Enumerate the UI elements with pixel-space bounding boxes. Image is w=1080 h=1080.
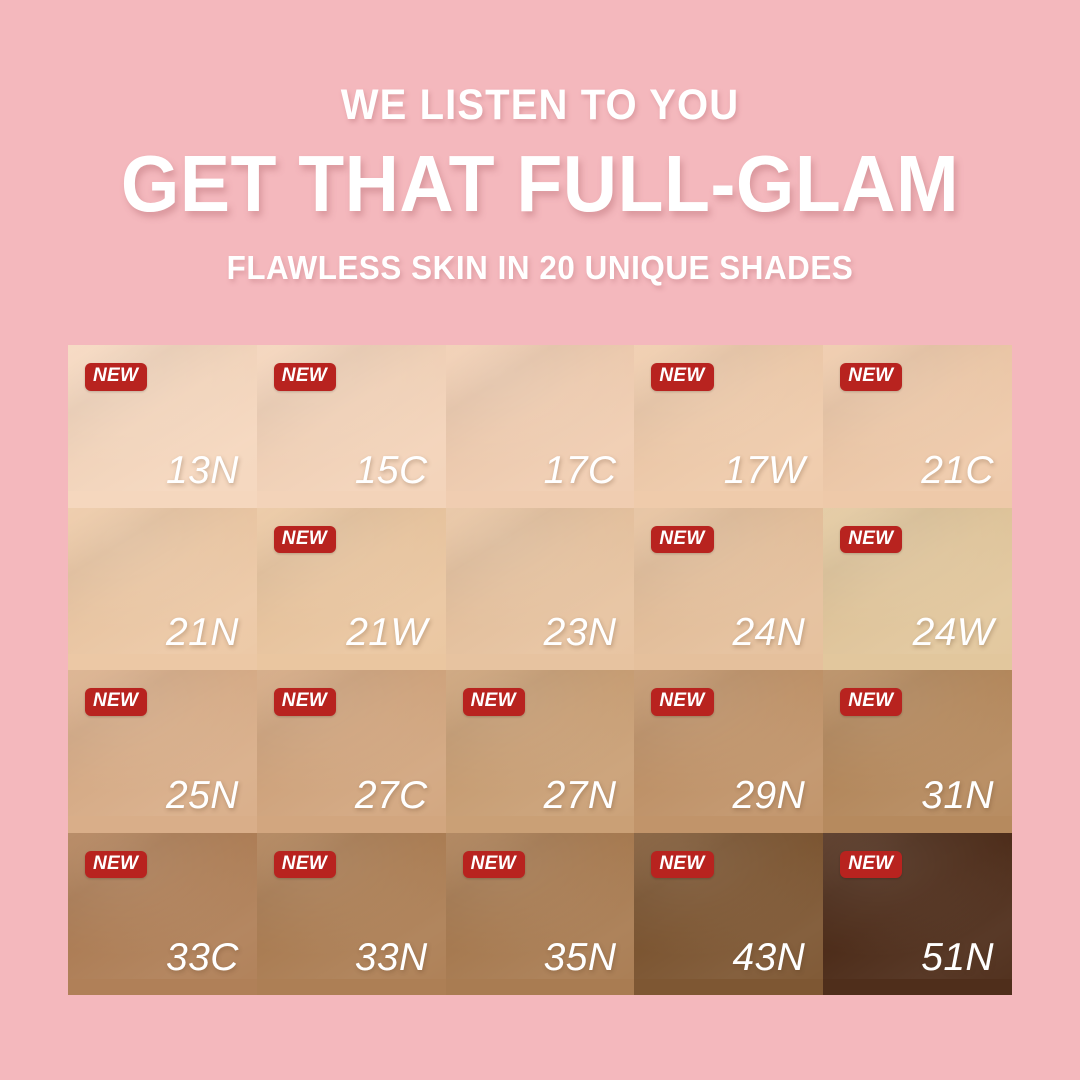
new-badge: NEW	[274, 526, 336, 554]
shade-code-label: 29N	[732, 776, 805, 815]
shade-code-label: 51N	[921, 938, 994, 977]
new-badge: NEW	[85, 363, 147, 391]
new-badge: NEW	[463, 851, 525, 879]
shade-code-label: 15C	[355, 451, 428, 490]
shade-code-label: 13N	[166, 451, 239, 490]
shade-swatch[interactable]: NEW33C	[68, 833, 257, 996]
shade-swatch[interactable]: NEW43N	[634, 833, 823, 996]
new-badge: NEW	[651, 363, 713, 391]
new-badge: NEW	[85, 688, 147, 716]
new-badge: NEW	[651, 688, 713, 716]
shade-swatch[interactable]: NEW21N	[68, 508, 257, 671]
shade-swatch[interactable]: NEW15C	[257, 345, 446, 508]
shade-swatch[interactable]: NEW35N	[446, 833, 635, 996]
shade-swatch[interactable]: NEW51N	[823, 833, 1012, 996]
new-badge: NEW	[840, 688, 902, 716]
shade-swatch[interactable]: NEW17C	[446, 345, 635, 508]
shade-swatch[interactable]: NEW17W	[634, 345, 823, 508]
shade-code-label: 27N	[544, 776, 617, 815]
page-title: GET THAT FULL-GLAM	[32, 144, 1047, 224]
new-badge: NEW	[274, 688, 336, 716]
new-badge: NEW	[463, 688, 525, 716]
new-badge: NEW	[274, 363, 336, 391]
new-badge: NEW	[85, 851, 147, 879]
shade-code-label: 43N	[732, 938, 805, 977]
shade-code-label: 21N	[166, 613, 239, 652]
subtitle-text: FLAWLESS SKIN IN 20 UNIQUE SHADES	[27, 251, 1053, 284]
shade-swatch[interactable]: NEW27C	[257, 670, 446, 833]
shade-code-label: 21W	[346, 613, 427, 652]
shade-code-label: 24W	[913, 613, 994, 652]
new-badge: NEW	[274, 851, 336, 879]
shade-swatch[interactable]: NEW21W	[257, 508, 446, 671]
shade-swatch[interactable]: NEW24N	[634, 508, 823, 671]
shade-swatch[interactable]: NEW21C	[823, 345, 1012, 508]
new-badge: NEW	[651, 526, 713, 554]
shade-swatch-grid: NEW13NNEW15CNEW17CNEW17WNEW21CNEW21NNEW2…	[68, 345, 1012, 995]
shade-code-label: 24N	[732, 613, 805, 652]
shade-swatch[interactable]: NEW25N	[68, 670, 257, 833]
shade-code-label: 33N	[355, 938, 428, 977]
shade-code-label: 33C	[166, 938, 239, 977]
shade-code-label: 27C	[355, 776, 428, 815]
shade-code-label: 17C	[544, 451, 617, 490]
shade-swatch[interactable]: NEW13N	[68, 345, 257, 508]
new-badge: NEW	[651, 851, 713, 879]
new-badge: NEW	[840, 363, 902, 391]
shade-swatch[interactable]: NEW23N	[446, 508, 635, 671]
promo-header: WE LISTEN TO YOU GET THAT FULL-GLAM FLAW…	[0, 0, 1080, 284]
new-badge: NEW	[840, 851, 902, 879]
shade-code-label: 25N	[166, 776, 239, 815]
shade-code-label: 17W	[724, 451, 805, 490]
eyebrow-text: WE LISTEN TO YOU	[38, 84, 1042, 127]
shade-swatch[interactable]: NEW29N	[634, 670, 823, 833]
shade-code-label: 21C	[921, 451, 994, 490]
shade-swatch[interactable]: NEW27N	[446, 670, 635, 833]
new-badge: NEW	[840, 526, 902, 554]
shade-swatch[interactable]: NEW33N	[257, 833, 446, 996]
shade-code-label: 23N	[544, 613, 617, 652]
shade-swatch[interactable]: NEW24W	[823, 508, 1012, 671]
shade-swatch[interactable]: NEW31N	[823, 670, 1012, 833]
shade-code-label: 31N	[921, 776, 994, 815]
shade-code-label: 35N	[544, 938, 617, 977]
